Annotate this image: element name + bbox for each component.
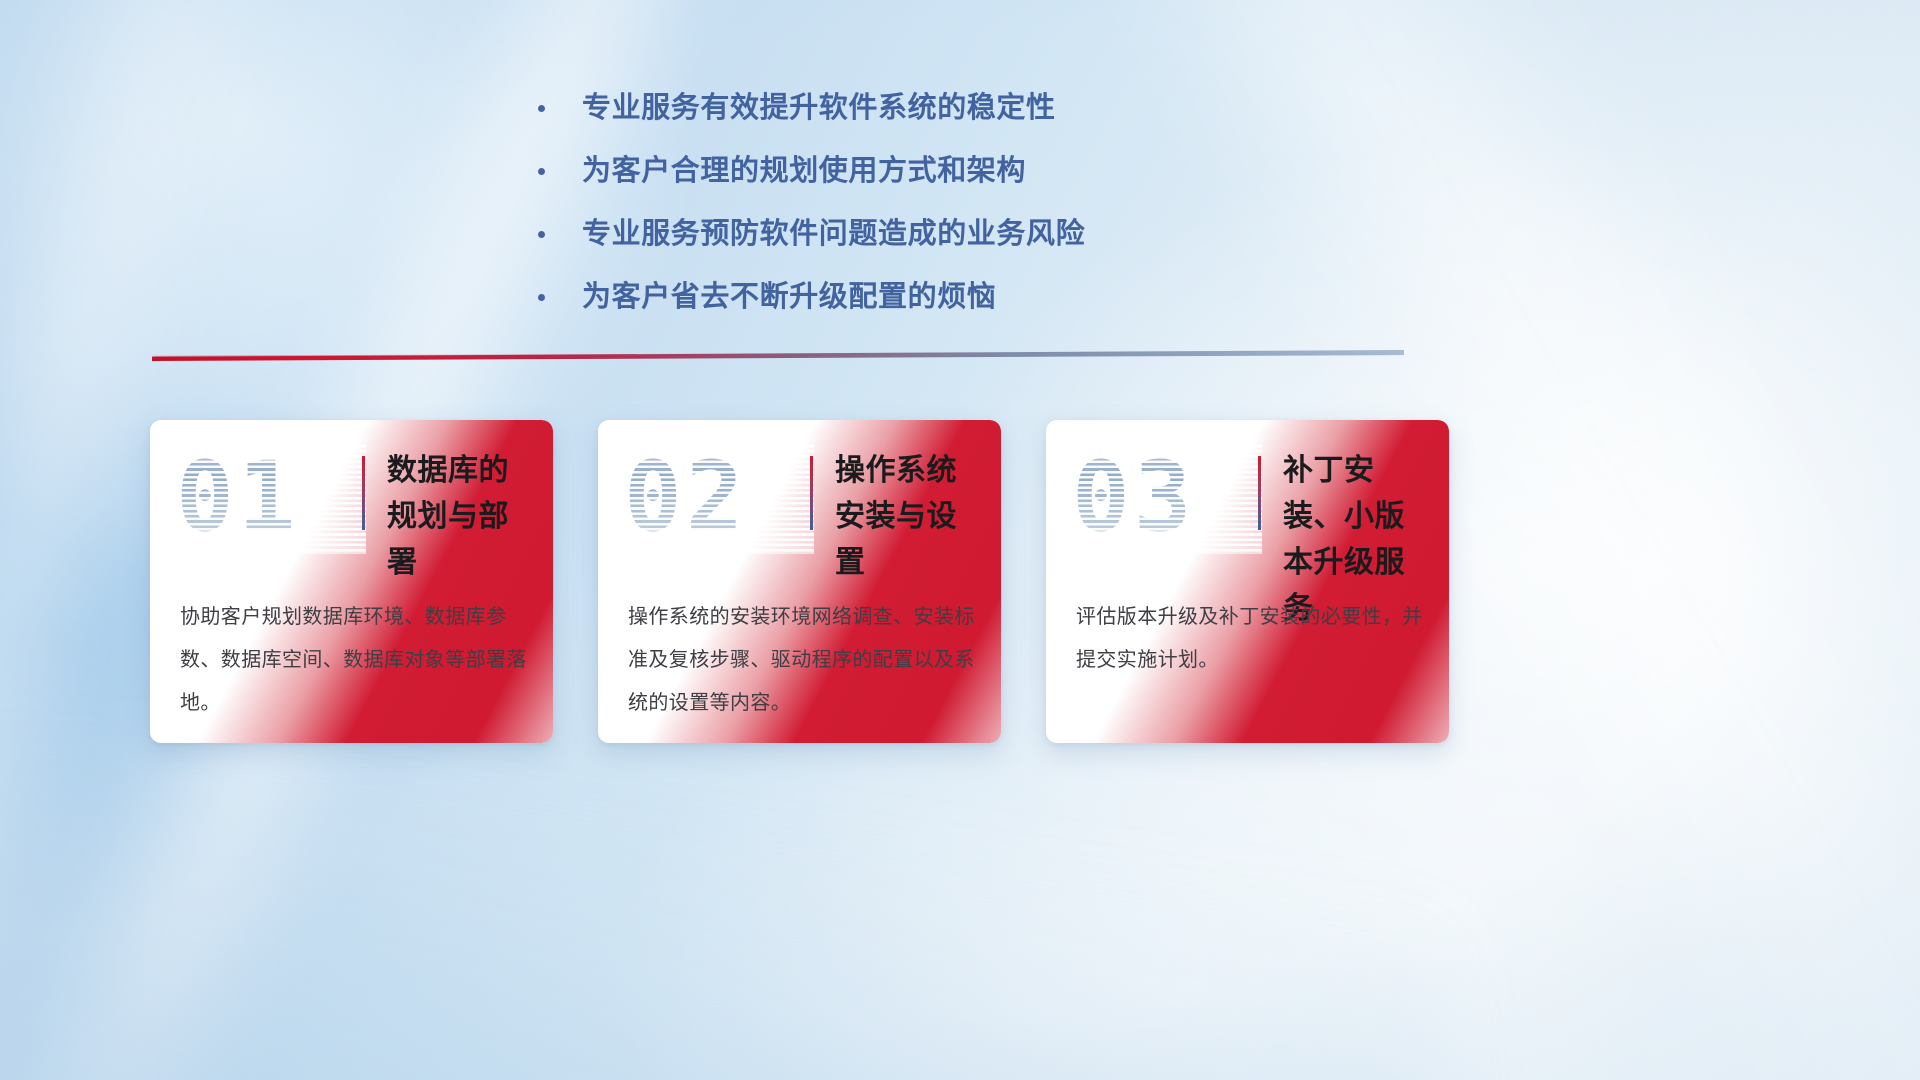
list-item: 专业服务预防软件问题造成的业务风险 [538,214,1238,254]
card-title: 数据库的规划与部署 [387,448,537,586]
bullet-dot-icon [538,105,545,112]
card-title: 操作系统安装与设置 [835,448,985,586]
card-body-text: 评估版本升级及补丁安装的必要性，并提交实施计划。 [1076,596,1427,682]
list-item: 为客户合理的规划使用方式和架构 [538,151,1238,191]
ghost-number-01: 01 [176,444,366,554]
card-header: 数据库的规划与部署 [362,448,537,586]
bullet-dot-icon [538,231,545,238]
bullet-text: 专业服务有效提升软件系统的稳定性 [582,88,1056,128]
bullet-dot-icon [538,294,545,301]
list-item: 为客户省去不断升级配置的烦恼 [538,277,1238,317]
bullet-text: 专业服务预防软件问题造成的业务风险 [582,214,1085,254]
ghost-number-03: 03 [1072,444,1262,554]
service-card-group: 01 数据库的规划与部署 协助客户规划数据库环境、数据库参数、数据库空间、数据库… [150,420,1450,743]
ghost-number-02: 02 [624,444,814,554]
bullet-text: 为客户合理的规划使用方式和架构 [582,151,1026,191]
card-body-text: 协助客户规划数据库环境、数据库参数、数据库空间、数据库对象等部署落地。 [180,596,531,725]
service-card-03[interactable]: 03 补丁安装、小版本升级服务 评估版本升级及补丁安装的必要性，并提交实施计划。 [1046,420,1449,743]
bullet-dot-icon [538,168,545,175]
section-divider [152,350,1404,361]
card-accent-bar [810,456,813,530]
card-body-text: 操作系统的安装环境网络调查、安装标准及复核步骤、驱动程序的配置以及系统的设置等内… [628,596,979,725]
card-accent-bar [1258,456,1261,530]
ghost-number-text: 03 [1072,444,1262,550]
service-card-02[interactable]: 02 操作系统安装与设置 操作系统的安装环境网络调查、安装标准及复核步骤、驱动程… [598,420,1001,743]
card-accent-bar [362,456,365,530]
bullet-text: 为客户省去不断升级配置的烦恼 [582,277,996,317]
slide-canvas: 专业服务有效提升软件系统的稳定性 为客户合理的规划使用方式和架构 专业服务预防软… [0,0,1920,1080]
background-light-streak-4 [0,760,1440,1080]
benefits-bullet-list: 专业服务有效提升软件系统的稳定性 为客户合理的规划使用方式和架构 专业服务预防软… [538,88,1238,340]
ghost-number-text: 02 [624,444,814,550]
ghost-number-text: 01 [176,444,366,550]
list-item: 专业服务有效提升软件系统的稳定性 [538,88,1238,128]
card-header: 操作系统安装与设置 [810,448,985,586]
service-card-01[interactable]: 01 数据库的规划与部署 协助客户规划数据库环境、数据库参数、数据库空间、数据库… [150,420,553,743]
